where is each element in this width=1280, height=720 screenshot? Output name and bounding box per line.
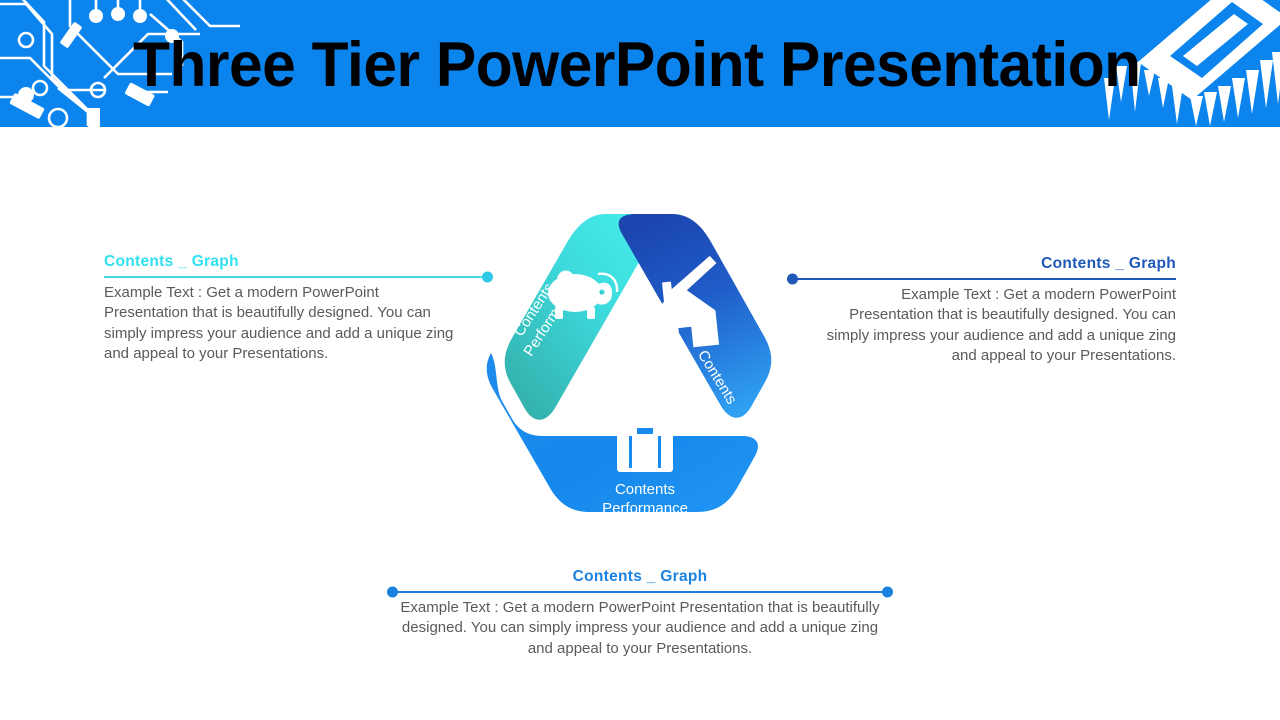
block-left-body: Example Text : Get a modern PowerPoint P…	[104, 283, 464, 365]
segment-bottom-label-1: Contents	[615, 481, 675, 498]
briefcase-icon	[617, 424, 673, 472]
block-left-heading: Contents _ Graph	[104, 252, 464, 272]
block-bottom-heading: Contents _ Graph	[392, 567, 888, 587]
header-band: Three Tier PowerPoint Presentation	[0, 0, 1280, 127]
content-block-bottom: Contents _ Graph Example Text : Get a mo…	[392, 567, 888, 659]
block-bottom-endpoint-dot-left	[387, 586, 398, 597]
content-block-right: Contents _ Graph Example Text : Get a mo…	[816, 254, 1176, 367]
segment-bottom-label-2: Performance	[602, 500, 688, 517]
content-block-left: Contents _ Graph Example Text : Get a mo…	[104, 252, 464, 365]
trefoil-diagram: Contents Performance Contents	[450, 200, 800, 550]
slide: Three Tier PowerPoint Presentation	[0, 0, 1280, 720]
block-right-rule	[792, 278, 1176, 280]
block-left-rule	[104, 276, 488, 278]
block-right-heading: Contents _ Graph	[816, 254, 1176, 274]
block-bottom-rule	[392, 591, 888, 593]
page-title: Three Tier PowerPoint Presentation	[133, 27, 1141, 103]
block-right-body: Example Text : Get a modern PowerPoint P…	[816, 285, 1176, 367]
diagram-segment-right[interactable]: Contents Performance	[619, 214, 772, 432]
block-bottom-endpoint-dot-right	[882, 586, 893, 597]
block-left-endpoint-dot	[482, 271, 493, 282]
block-bottom-body: Example Text : Get a modern PowerPoint P…	[392, 598, 888, 660]
block-right-endpoint-dot	[787, 273, 798, 284]
